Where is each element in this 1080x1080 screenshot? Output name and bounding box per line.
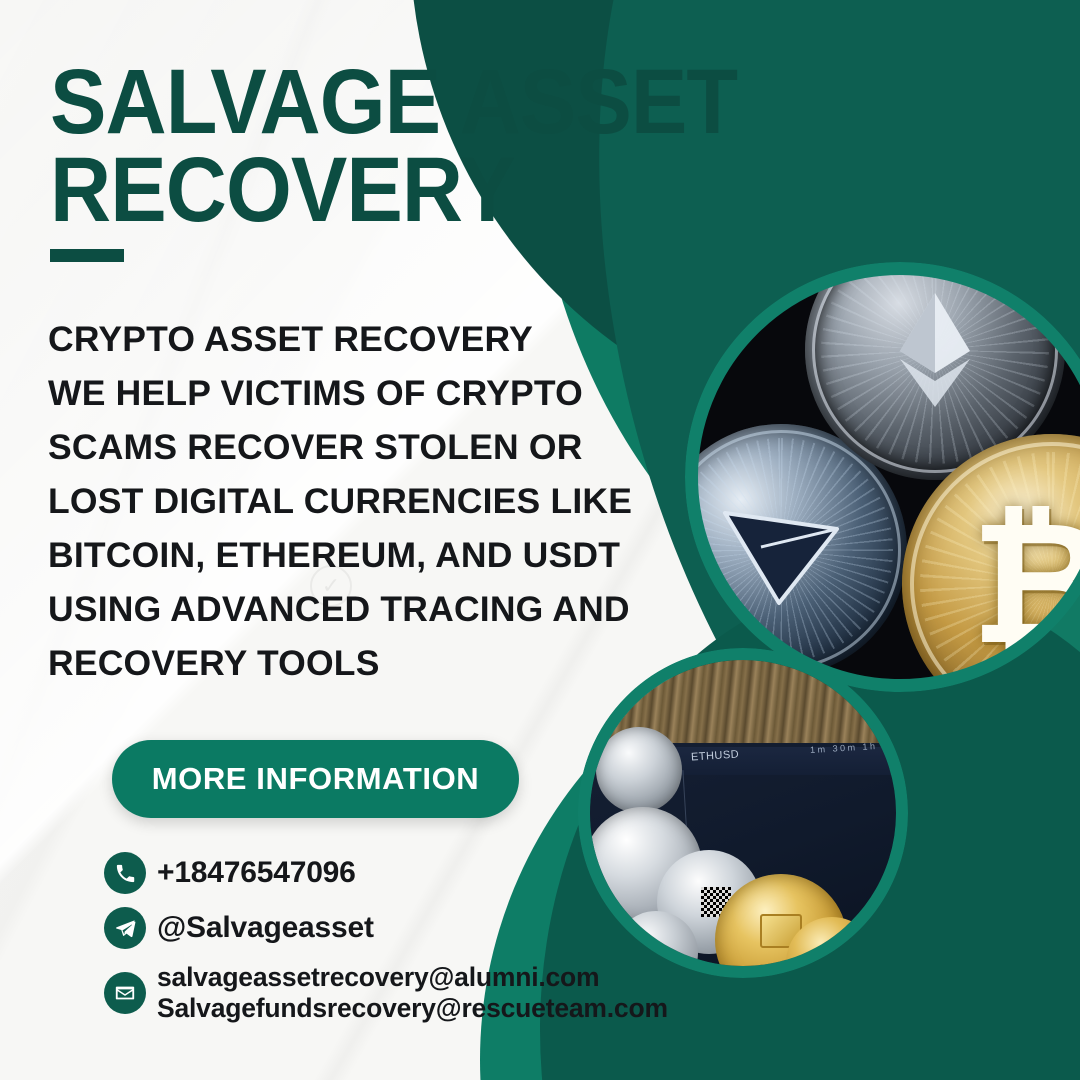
phone-icon bbox=[104, 852, 146, 894]
promotional-poster: ₿ ‖ ◢ − ⊕ ETHUSD 1m 30m 1 bbox=[0, 0, 1080, 1080]
email-secondary: Salvagefundsrecovery@rescueteam.com bbox=[157, 993, 668, 1024]
body-line: LOST DIGITAL CURRENCIES LIKE bbox=[48, 475, 688, 529]
bitcoin-icon: ₿ bbox=[971, 486, 1080, 680]
contact-row-email[interactable]: salvageassetrecovery@alumni.com Salvagef… bbox=[104, 962, 668, 1025]
telegram-icon bbox=[104, 907, 146, 949]
more-information-button-label: MORE INFORMATION bbox=[152, 761, 480, 797]
body-line: WE HELP VICTIMS OF CRYPTO bbox=[48, 367, 688, 421]
tron-icon bbox=[721, 503, 841, 607]
phone-number: +18476547096 bbox=[157, 856, 356, 890]
coins-photo-inner: ₿ bbox=[697, 274, 1080, 680]
more-information-button[interactable]: MORE INFORMATION bbox=[112, 740, 519, 818]
contact-row-phone[interactable]: +18476547096 bbox=[104, 852, 668, 894]
title-line-2: RECOVERY bbox=[50, 146, 737, 234]
poster-content: SALVAGE ASSET RECOVERY CRYPTO ASSET RECO… bbox=[0, 0, 720, 1080]
watermark-icon: ✓ bbox=[310, 565, 352, 607]
body-line: CRYPTO ASSET RECOVERY bbox=[48, 313, 688, 367]
body-line: USING ADVANCED TRACING AND bbox=[48, 583, 688, 637]
title-underline-accent bbox=[50, 249, 124, 262]
body-line: SCAMS RECOVER STOLEN OR bbox=[48, 421, 688, 475]
poster-title: SALVAGE ASSET RECOVERY bbox=[50, 58, 797, 262]
email-primary: salvageassetrecovery@alumni.com bbox=[157, 962, 668, 993]
telegram-handle: @Salvageasset bbox=[157, 911, 374, 945]
envelope-icon bbox=[104, 972, 146, 1014]
poster-body-copy: CRYPTO ASSET RECOVERY WE HELP VICTIMS OF… bbox=[48, 313, 688, 691]
body-line: BITCOIN, ETHEREUM, AND USDT bbox=[48, 529, 688, 583]
title-line-1: SALVAGE ASSET bbox=[50, 58, 737, 146]
ethereum-icon bbox=[896, 291, 974, 409]
body-line: RECOVERY TOOLS bbox=[48, 637, 688, 691]
contact-row-telegram[interactable]: @Salvageasset bbox=[104, 907, 668, 949]
contact-list: +18476547096 @Salvageasset salvageass bbox=[104, 852, 668, 1025]
email-addresses: salvageassetrecovery@alumni.com Salvagef… bbox=[157, 962, 668, 1025]
